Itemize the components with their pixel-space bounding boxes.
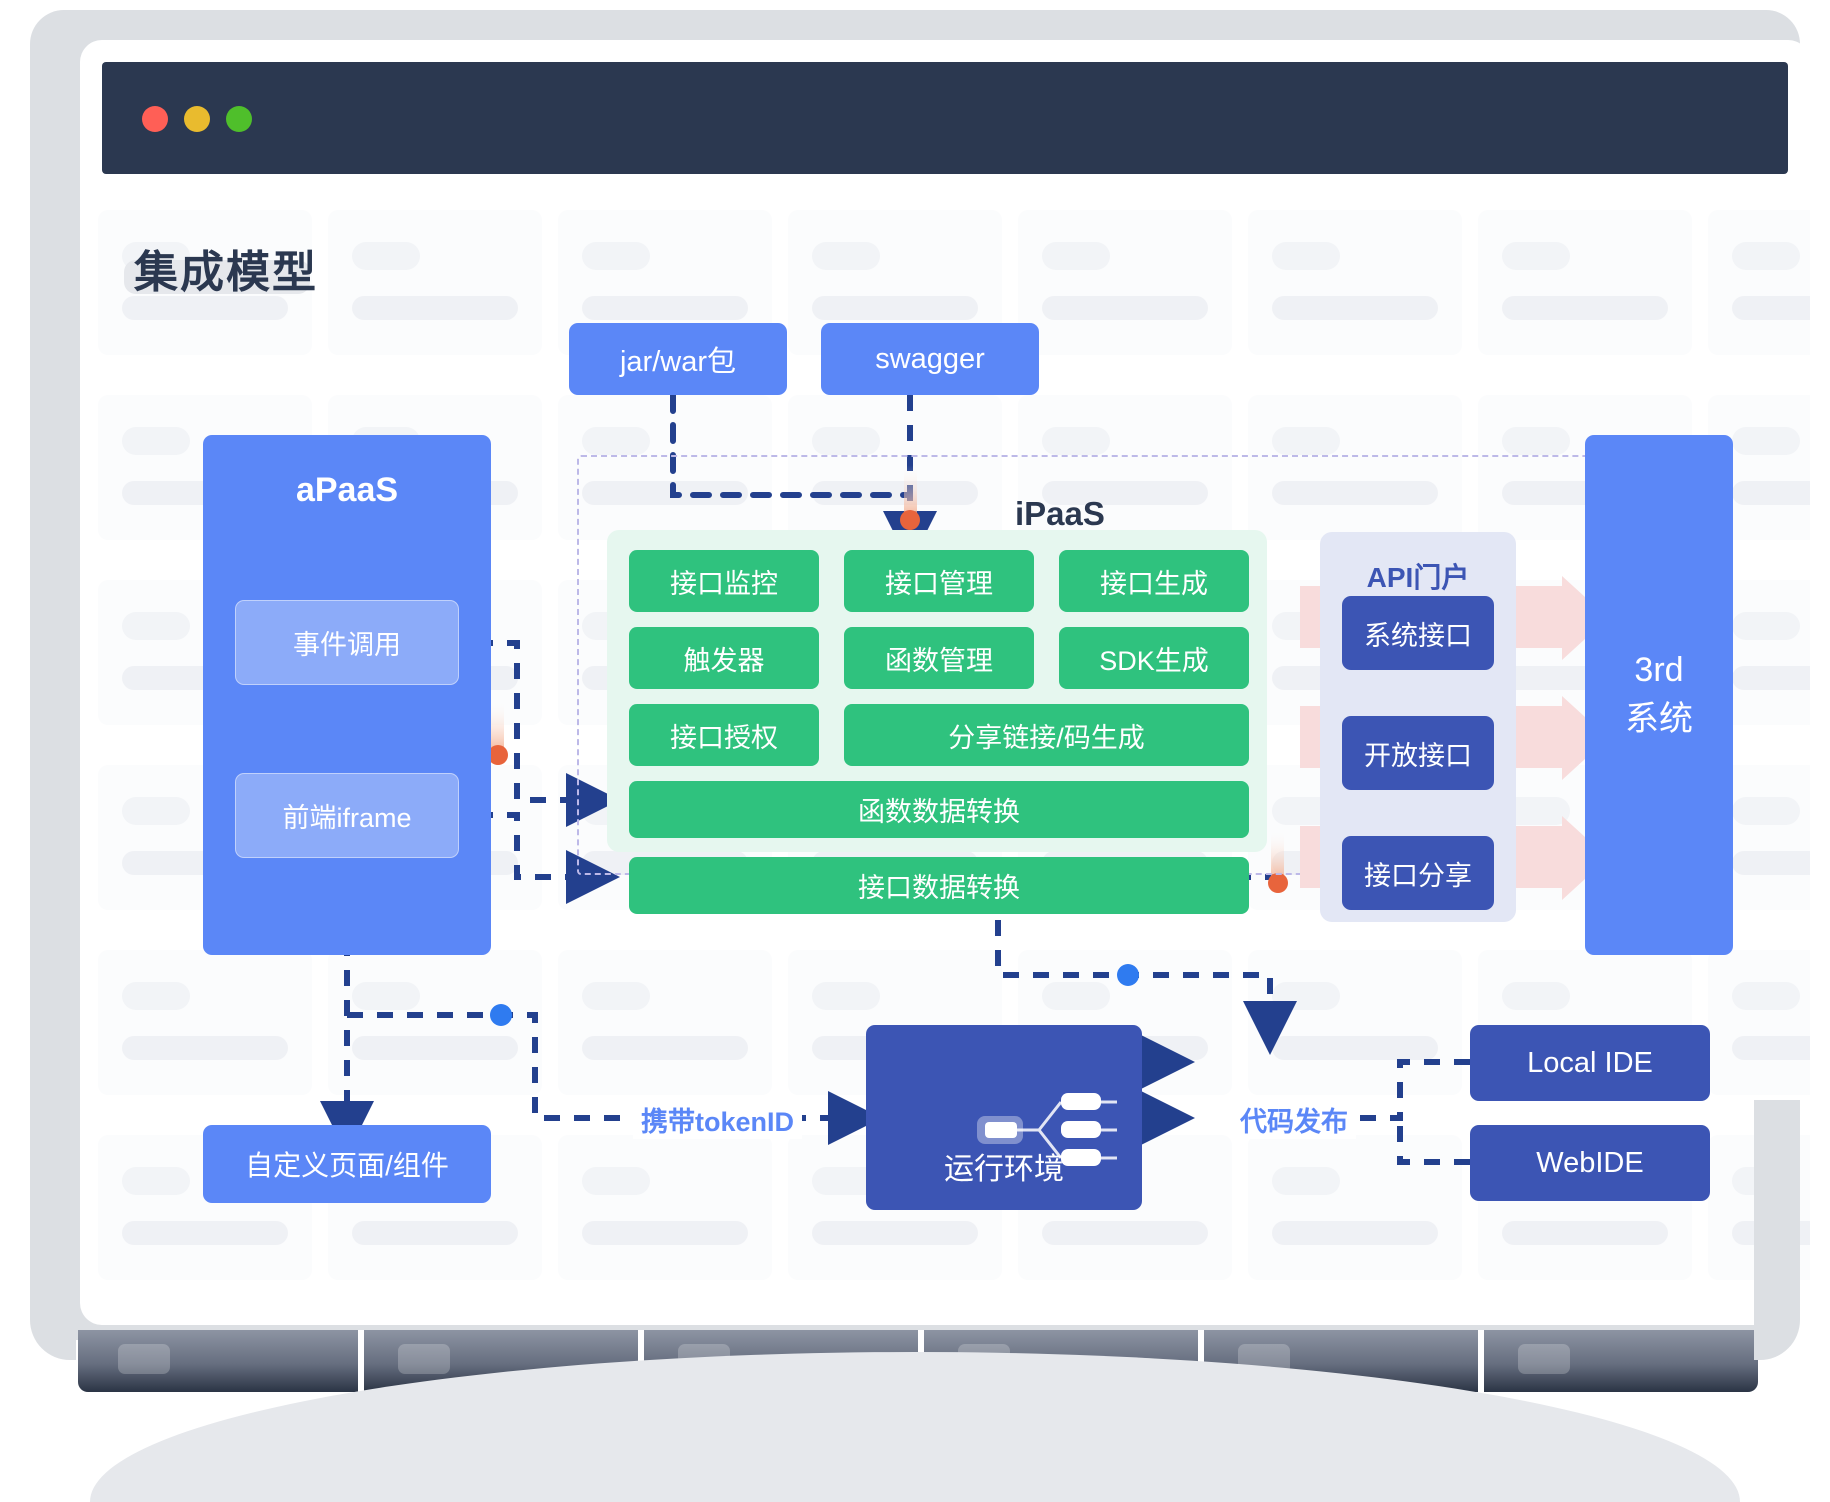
base-key [118, 1344, 170, 1374]
node-trigger[interactable]: 触发器 [629, 627, 819, 689]
device-frame: 集成模型 [30, 10, 1800, 1340]
node-sdk-gen[interactable]: SDK生成 [1059, 627, 1249, 689]
branch-tree-icon [941, 1080, 1141, 1180]
flow-marker-tokenid [490, 1004, 512, 1026]
node-function-data-transform[interactable]: 函数数据转换 [629, 781, 1249, 838]
ipaas-title: iPaaS [1015, 495, 1105, 533]
label-carry-tokenid: 携带tokenID [633, 1100, 802, 1139]
node-open-interface[interactable]: 开放接口 [1342, 716, 1494, 790]
frame-corner-right [1754, 1100, 1800, 1360]
panel-apaas[interactable]: aPaaS [203, 435, 491, 955]
node-frontend-iframe[interactable]: 前端iframe [235, 773, 459, 858]
node-interface-monitor[interactable]: 接口监控 [629, 550, 819, 612]
node-interface-gen[interactable]: 接口生成 [1059, 550, 1249, 612]
base-notch [358, 1330, 364, 1392]
conn-custom-page-to-runtime-a [347, 1015, 640, 1118]
node-event-call[interactable]: 事件调用 [235, 600, 459, 685]
flow-marker-event [488, 745, 508, 765]
node-interface-share[interactable]: 接口分享 [1342, 836, 1494, 910]
node-third-party-system[interactable]: 3rd 系统 [1585, 435, 1733, 955]
node-local-ide[interactable]: Local IDE [1470, 1025, 1710, 1101]
node-function-mgmt[interactable]: 函数管理 [844, 627, 1034, 689]
node-interface-auth[interactable]: 接口授权 [629, 704, 819, 766]
node-swagger[interactable]: swagger [821, 323, 1039, 395]
node-interface-mgmt[interactable]: 接口管理 [844, 550, 1034, 612]
node-interface-data-transform[interactable]: 接口数据转换 [629, 857, 1249, 914]
label-code-publish: 代码发布 [1232, 1100, 1356, 1139]
diagram-canvas: 集成模型 [80, 40, 1810, 1325]
base-key [398, 1344, 450, 1374]
frame-corner-left [30, 1100, 76, 1360]
node-web-ide[interactable]: WebIDE [1470, 1125, 1710, 1201]
panel-apaas-title: aPaaS [203, 471, 491, 510]
base-notch [1478, 1330, 1484, 1392]
node-system-interface[interactable]: 系统接口 [1342, 596, 1494, 670]
node-custom-page[interactable]: 自定义页面/组件 [203, 1125, 491, 1203]
flow-marker-share [1268, 873, 1288, 893]
flow-marker-func [1117, 964, 1139, 986]
node-jar-war[interactable]: jar/war包 [569, 323, 787, 395]
panel-api-portal-title: API门户 [1320, 556, 1516, 596]
screen: 集成模型 [80, 40, 1810, 1325]
base-key [1518, 1344, 1570, 1374]
conn-webide-to-publish [1400, 1118, 1470, 1162]
node-share-link-gen[interactable]: 分享链接/码生成 [844, 704, 1249, 766]
